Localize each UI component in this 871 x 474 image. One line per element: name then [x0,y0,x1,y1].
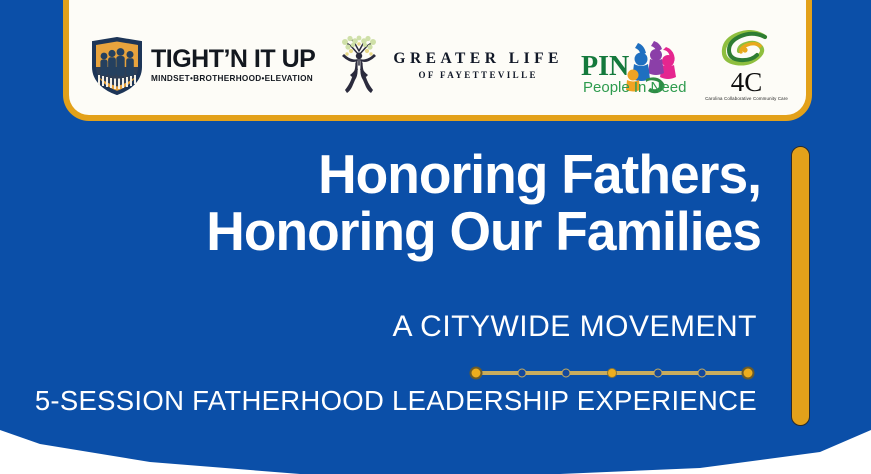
divider-dot [654,369,663,378]
divider-dot [518,369,527,378]
logo-tagline: Carolina Collaborative Community Care [705,96,788,101]
logo-tight-n-it-up-text: TIGHT’N IT UP MINDSET•BROTHERHOOD•ELEVAT… [151,47,315,83]
logo-people-in-need: PIN People In Need [580,35,688,97]
title-line-2: Honoring Our Families [23,205,761,258]
logo-greater-life: GREATER LIFE OF FAYETTEVILLE [332,35,563,97]
sponsor-logo-row: TIGHT’N IT UP MINDSET•BROTHERHOOD•ELEVAT… [83,30,792,101]
divider-dot [607,368,617,378]
tree-of-life-icon [332,35,386,97]
logo-name: GREATER LIFE [393,51,563,67]
logo-tagline: MINDSET•BROTHERHOOD•ELEVATION [151,75,315,83]
subtitle: A CITYWIDE MOVEMENT [0,310,775,344]
logo-name: TIGHT’N IT UP [151,47,315,72]
divider-dot [742,367,755,380]
svg-text:People In Need: People In Need [583,79,686,96]
svg-text:PIN: PIN [581,51,629,82]
headline-block: Honoring Fathers, Honoring Our Families [0,148,775,258]
sponsor-logo-bar: TIGHT’N IT UP MINDSET•BROTHERHOOD•ELEVAT… [63,0,812,121]
dotted-divider [468,364,756,382]
logo-greater-life-text: GREATER LIFE OF FAYETTEVILLE [393,51,563,80]
logo-tagline: OF FAYETTEVILLE [418,71,537,80]
shield-with-men-silhouettes-icon [91,37,143,95]
divider-dot [698,369,707,378]
logo-4c: 4C Carolina Collaborative Community Care [705,30,792,101]
divider-dot [562,369,571,378]
logo-name: 4C [731,70,763,95]
logo-tight-n-it-up: TIGHT’N IT UP MINDSET•BROTHERHOOD•ELEVAT… [83,37,315,95]
title-line-1: Honoring Fathers, [23,148,761,201]
gold-accent-bar [791,146,810,426]
swirl-spiral-icon [719,30,775,71]
event-banner: TIGHT’N IT UP MINDSET•BROTHERHOOD•ELEVAT… [0,0,871,474]
divider-dot [470,367,483,380]
program-tagline: 5-SESSION FATHERHOOD LEADERSHIP EXPERIEN… [0,385,775,417]
